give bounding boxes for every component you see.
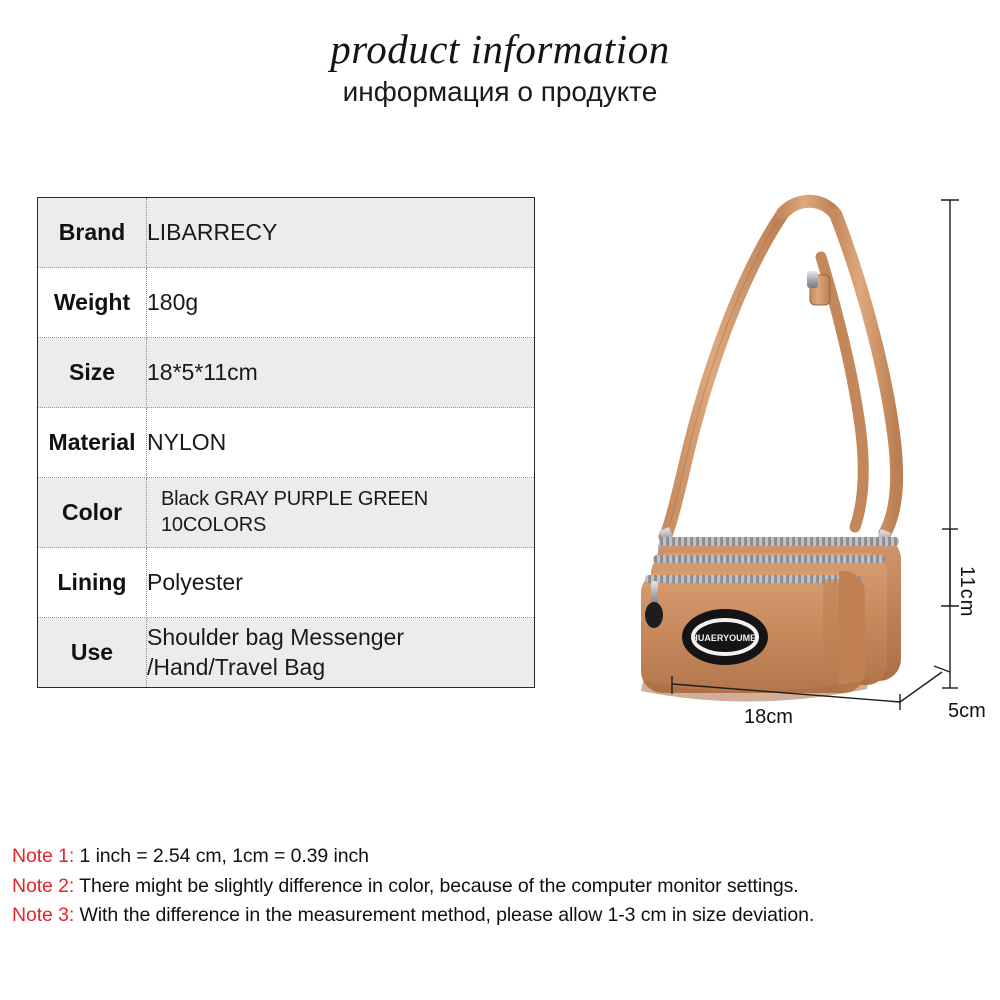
spec-key-lining: Lining — [38, 548, 147, 618]
notes-section: Note 1: 1 inch = 2.54 cm, 1cm = 0.39 inc… — [12, 842, 1000, 931]
bag-side-panel — [839, 571, 865, 693]
spec-value-use-line2: /Hand/Travel Bag — [147, 653, 534, 682]
spec-key-color: Color — [38, 478, 147, 548]
spec-value-lining: Polyester — [147, 548, 535, 618]
note-text: With the difference in the measurement m… — [80, 904, 815, 926]
spec-value-color: Black GRAY PURPLE GREEN 10COLORS — [147, 478, 535, 548]
table-row: Brand LIBARRECY — [38, 198, 535, 268]
spec-value-brand: LIBARRECY — [147, 198, 535, 268]
spec-value-size: 18*5*11cm — [147, 338, 535, 408]
brand-logo-patch: HUAERYOUMEI — [682, 609, 768, 665]
dimension-label-width: 18cm — [744, 706, 793, 729]
table-row: Size 18*5*11cm — [38, 338, 535, 408]
spec-value-use-line1: Shoulder bag Messenger — [147, 623, 534, 652]
brand-logo-text: HUAERYOUMEI — [691, 633, 758, 643]
note-label: Note 1: — [12, 845, 74, 867]
spec-value-weight: 180g — [147, 268, 535, 338]
table-row: Lining Polyester — [38, 548, 535, 618]
table-row: Material NYLON — [38, 408, 535, 478]
note-text: There might be slightly difference in co… — [79, 875, 798, 897]
dimension-label-height: 11cm — [957, 566, 977, 617]
note-text: 1 inch = 2.54 cm, 1cm = 0.39 inch — [80, 845, 369, 867]
note-label: Note 2: — [12, 875, 74, 897]
spec-key-use: Use — [38, 618, 147, 688]
page-title-english: product information — [0, 26, 1000, 73]
table-row: Color Black GRAY PURPLE GREEN 10COLORS — [38, 478, 535, 548]
spec-value-use: Shoulder bag Messenger /Hand/Travel Bag — [147, 618, 535, 688]
product-photo: HUAERYOUMEI — [555, 185, 955, 705]
spec-key-material: Material — [38, 408, 147, 478]
product-information-page: { "header": { "title_en": "product infor… — [0, 0, 1000, 1000]
spec-key-brand: Brand — [38, 198, 147, 268]
note-line: Note 2: There might be slightly differen… — [12, 872, 1000, 902]
note-label: Note 3: — [12, 904, 74, 926]
page-title-russian: информация о продукте — [0, 76, 1000, 108]
note-line: Note 3: With the difference in the measu… — [12, 901, 1000, 931]
spec-key-size: Size — [38, 338, 147, 408]
table-row: Use Shoulder bag Messenger /Hand/Travel … — [38, 618, 535, 688]
spec-key-weight: Weight — [38, 268, 147, 338]
product-spec-table: Brand LIBARRECY Weight 180g Size 18*5*11… — [37, 197, 535, 688]
spec-value-material: NYLON — [147, 408, 535, 478]
note-line: Note 1: 1 inch = 2.54 cm, 1cm = 0.39 inc… — [12, 842, 1000, 872]
table-row: Weight 180g — [38, 268, 535, 338]
dimension-label-depth: 5cm — [948, 700, 986, 723]
page-title-block: product information информация о продукт… — [0, 26, 1000, 108]
